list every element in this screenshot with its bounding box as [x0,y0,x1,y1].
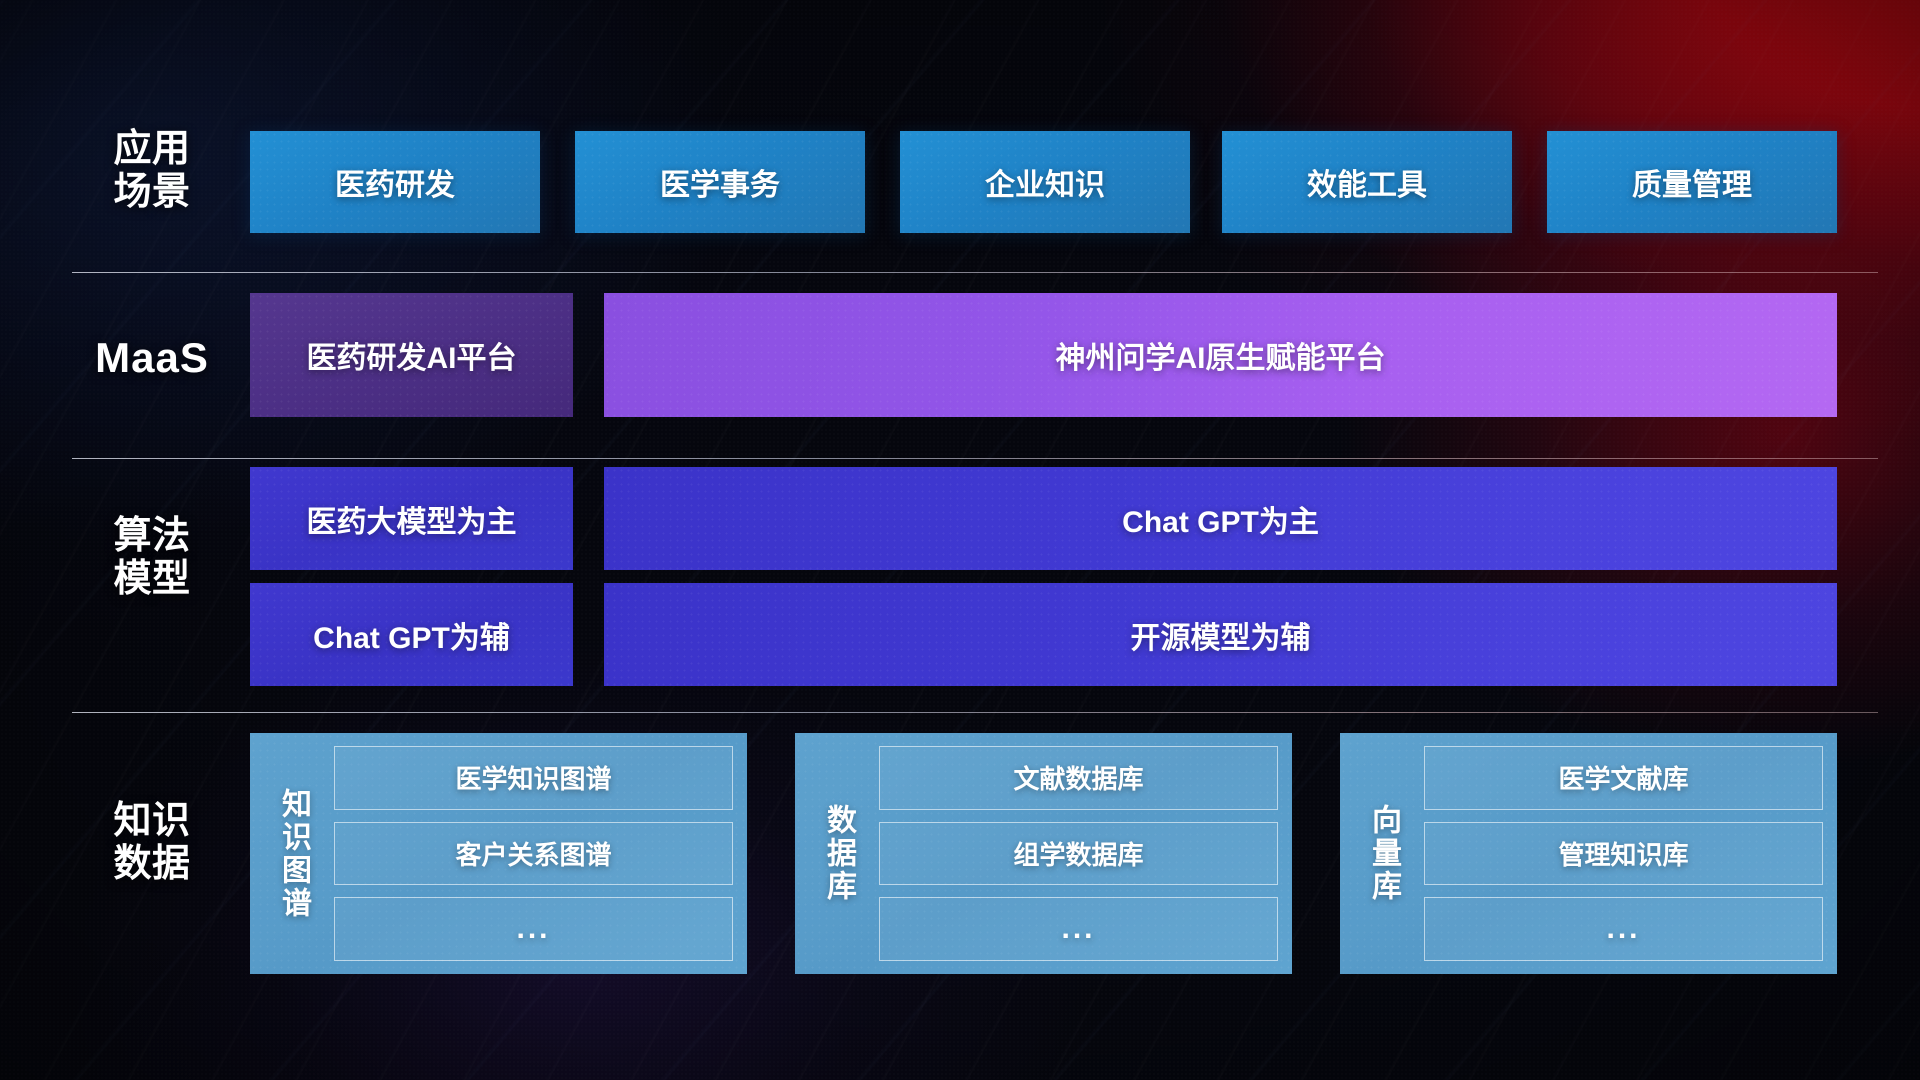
algorithm-box-pharma-main[interactable]: 医药大模型为主 [250,467,573,570]
algorithm-box-opensource-aux[interactable]: 开源模型为辅 [604,583,1837,686]
algorithm-box-opensource-aux-label: 开源模型为辅 [1131,613,1311,657]
maas-box-pharma-ai-platform-label: 医药研发AI平台 [307,333,517,377]
tier-label-maas: MaaS [72,334,232,381]
database-item-1[interactable]: 文献数据库 [879,746,1278,810]
application-box-5[interactable]: 质量管理 [1547,131,1837,233]
application-box-2-label: 医学事务 [660,160,780,204]
database-item-2[interactable]: 组学数据库 [879,822,1278,886]
application-box-1[interactable]: 医药研发 [250,131,540,233]
divider-after-application [72,272,1878,273]
tier-label-algorithm-line1: 算法 [72,515,232,558]
tier-label-algorithm: 算法 模型 [72,515,232,601]
algorithm-box-chatgpt-main[interactable]: Chat GPT为主 [604,467,1837,570]
tier-label-knowledge: 知识 数据 [72,800,232,886]
database-item-3[interactable]: ... [879,897,1278,961]
tier-label-application-line1: 应用 [72,128,232,171]
application-box-5-label: 质量管理 [1632,160,1752,204]
algorithm-box-pharma-main-label: 医药大模型为主 [307,497,517,541]
knowledge-card-vector-store[interactable]: 向量库 医学文献库 管理知识库 ... [1340,733,1837,974]
knowledge-card-database-side-label: 数据库 [807,746,869,961]
knowledge-graph-item-1[interactable]: 医学知识图谱 [334,746,733,810]
knowledge-graph-item-2[interactable]: 客户关系图谱 [334,822,733,886]
tier-label-application-line2: 场景 [72,171,232,214]
divider-after-algorithm [72,712,1878,713]
maas-box-shenzhou-platform-label: 神州问学AI原生赋能平台 [1056,333,1386,377]
diagram-canvas: 应用 场景 医药研发 医学事务 企业知识 效能工具 质量管理 MaaS 医药研发… [0,0,1920,1080]
application-box-2[interactable]: 医学事务 [575,131,865,233]
knowledge-card-vector-store-side-label: 向量库 [1352,746,1414,961]
tier-label-maas-line1: MaaS [72,334,232,381]
knowledge-graph-item-3[interactable]: ... [334,897,733,961]
knowledge-card-knowledge-graph-items: 医学知识图谱 客户关系图谱 ... [324,746,733,961]
application-box-3[interactable]: 企业知识 [900,131,1190,233]
tier-label-knowledge-line2: 数据 [72,843,232,886]
tier-label-application: 应用 场景 [72,128,232,214]
vector-store-item-2[interactable]: 管理知识库 [1424,822,1823,886]
application-box-1-label: 医药研发 [335,160,455,204]
maas-box-pharma-ai-platform[interactable]: 医药研发AI平台 [250,293,573,417]
knowledge-card-knowledge-graph-side-label: 知识图谱 [262,746,324,961]
application-box-4-label: 效能工具 [1307,160,1427,204]
vector-store-item-1[interactable]: 医学文献库 [1424,746,1823,810]
application-box-3-label: 企业知识 [985,160,1105,204]
tier-label-knowledge-line1: 知识 [72,800,232,843]
algorithm-box-chatgpt-aux-label: Chat GPT为辅 [313,613,510,657]
divider-after-maas [72,458,1878,459]
knowledge-card-vector-store-items: 医学文献库 管理知识库 ... [1414,746,1823,961]
tier-label-algorithm-line2: 模型 [72,558,232,601]
vector-store-item-3[interactable]: ... [1424,897,1823,961]
knowledge-card-knowledge-graph[interactable]: 知识图谱 医学知识图谱 客户关系图谱 ... [250,733,747,974]
knowledge-card-database[interactable]: 数据库 文献数据库 组学数据库 ... [795,733,1292,974]
knowledge-card-database-items: 文献数据库 组学数据库 ... [869,746,1278,961]
maas-box-shenzhou-platform[interactable]: 神州问学AI原生赋能平台 [604,293,1837,417]
algorithm-box-chatgpt-main-label: Chat GPT为主 [1122,497,1319,541]
application-box-4[interactable]: 效能工具 [1222,131,1512,233]
algorithm-box-chatgpt-aux[interactable]: Chat GPT为辅 [250,583,573,686]
